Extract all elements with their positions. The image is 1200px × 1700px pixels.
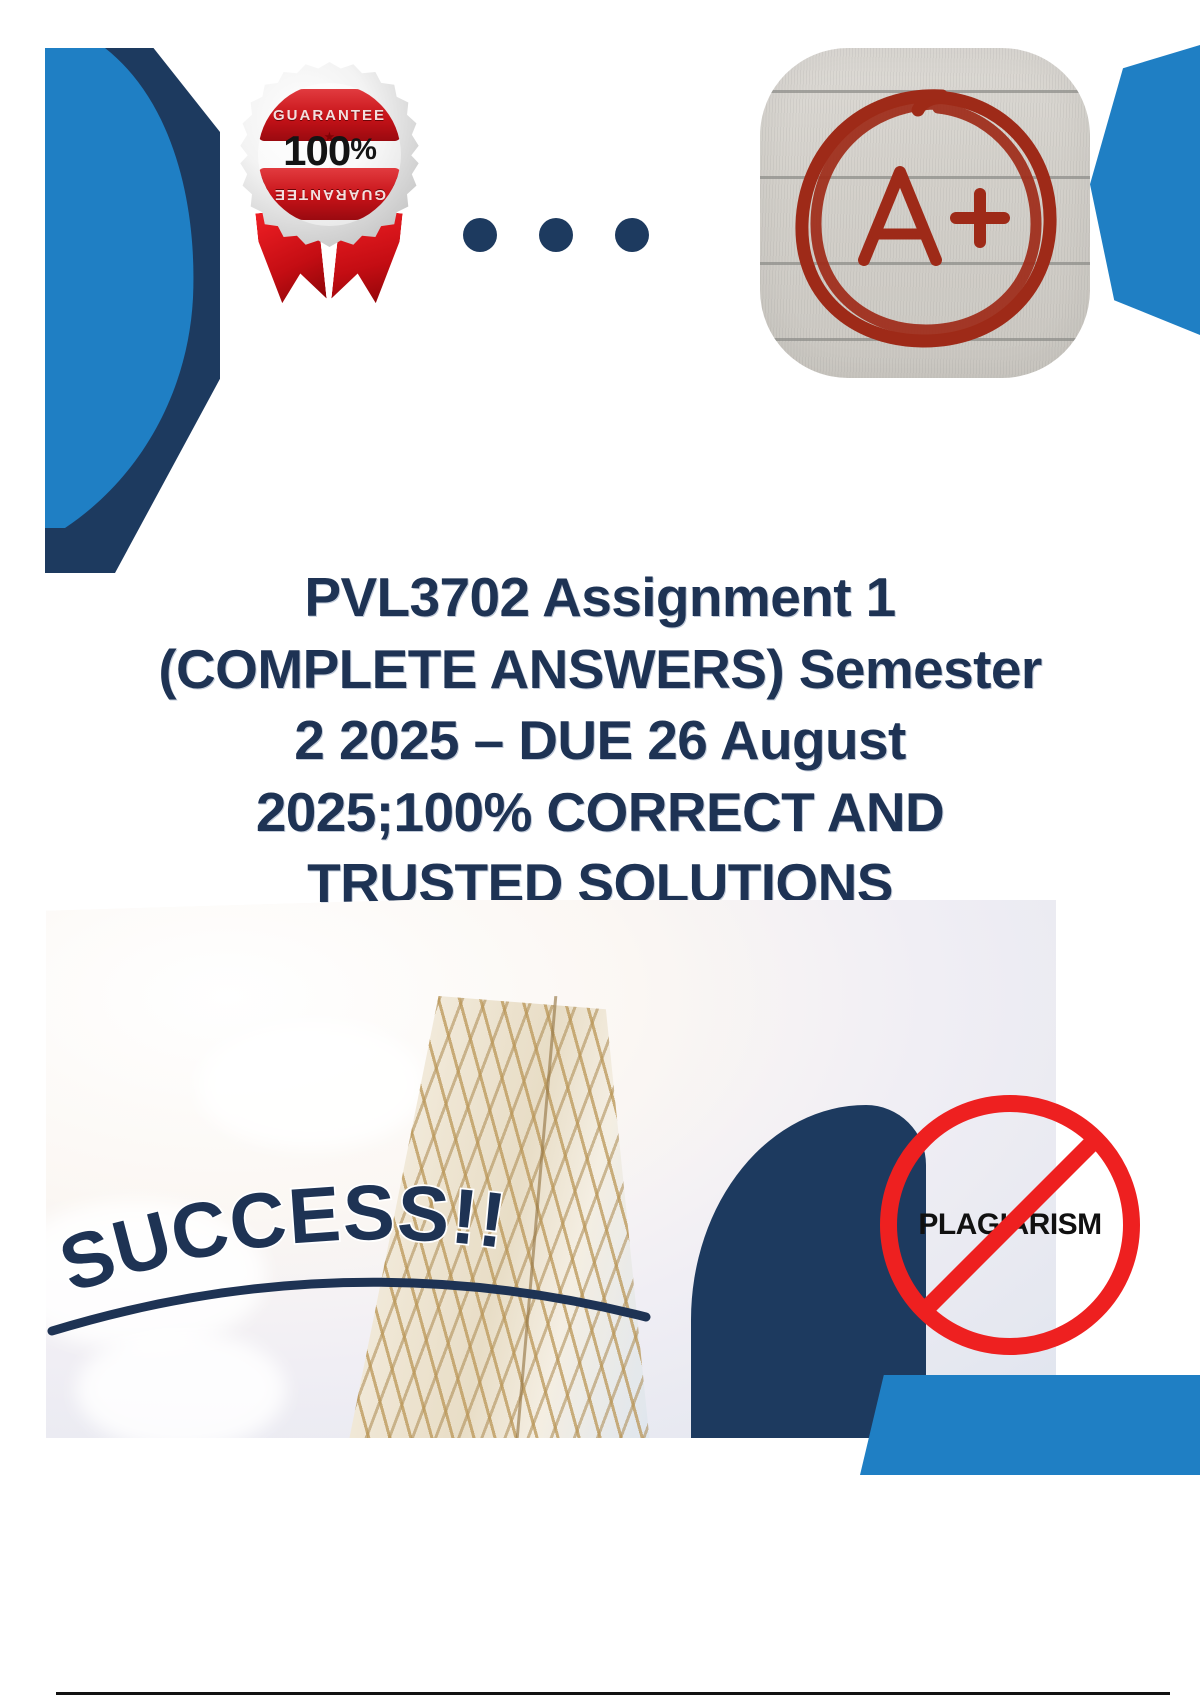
title-line-2: (COMPLETE ANSWERS) Semester bbox=[80, 634, 1120, 706]
satisfaction-guarantee-badge: GUARANTEE ★ 100% SATISFACTION ★ GUARANTE… bbox=[232, 62, 427, 307]
guarantee-label-bottom: GUARANTEE bbox=[273, 186, 386, 203]
bottom-right-blue-bar bbox=[860, 1375, 1200, 1475]
badge-face: GUARANTEE ★ 100% SATISFACTION ★ GUARANTE… bbox=[258, 83, 401, 226]
title-line-3: 2 2025 – DUE 26 August bbox=[80, 705, 1120, 777]
top-right-blue-shape bbox=[1090, 45, 1200, 335]
guarantee-banner-bottom: GUARANTEE bbox=[258, 168, 401, 220]
page-bottom-rule bbox=[56, 1692, 1170, 1695]
success-banner: SUCCESS!! bbox=[42, 1145, 662, 1355]
title-line-1: PVL3702 Assignment 1 bbox=[80, 562, 1120, 634]
guarantee-label-top: GUARANTEE bbox=[273, 107, 386, 124]
no-plagiarism-badge: PLAGIARISM bbox=[880, 1095, 1140, 1355]
dot-icon-2 bbox=[539, 218, 573, 252]
rosette-starburst-icon: GUARANTEE ★ 100% SATISFACTION ★ GUARANTE… bbox=[237, 62, 422, 247]
success-underline bbox=[52, 1282, 646, 1331]
a-plus-grade-card bbox=[760, 48, 1090, 378]
page-title: PVL3702 Assignment 1 (COMPLETE ANSWERS) … bbox=[80, 562, 1120, 920]
dot-icon-3 bbox=[615, 218, 649, 252]
a-plus-ink-icon bbox=[760, 48, 1090, 378]
document-cover-page: GUARANTEE ★ 100% SATISFACTION ★ GUARANTE… bbox=[0, 0, 1200, 1700]
dot-icon-1 bbox=[463, 218, 497, 252]
percent-number: 100 bbox=[283, 127, 350, 174]
title-line-4: 2025;100% CORRECT AND bbox=[80, 777, 1120, 849]
three-dots-separator bbox=[463, 218, 649, 252]
percent-symbol: % bbox=[350, 133, 376, 166]
